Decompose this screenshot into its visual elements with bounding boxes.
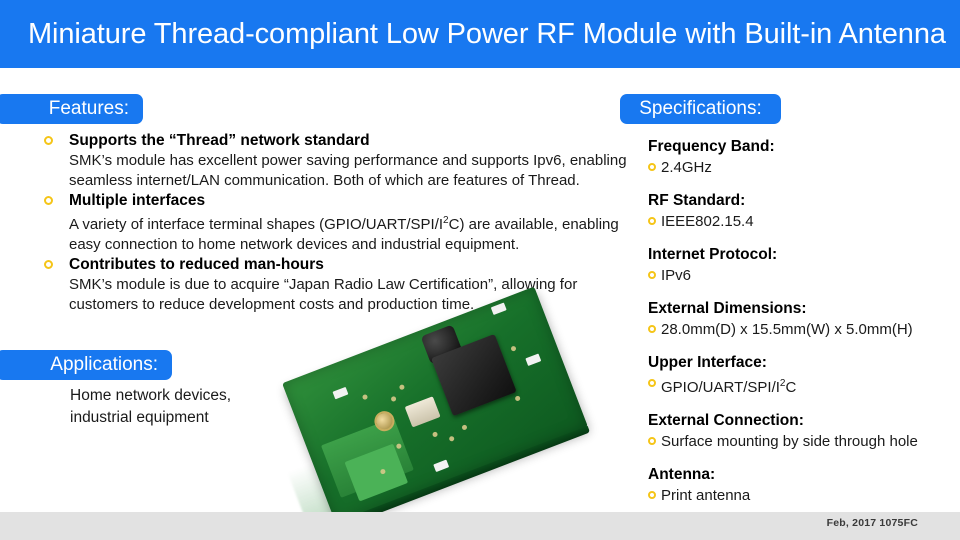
spec-label: External Dimensions:	[648, 298, 948, 319]
spec-label: External Connection:	[648, 410, 948, 431]
feature-body: SMK’s module has excellent power saving …	[44, 151, 634, 190]
bullet-ring-icon	[44, 136, 53, 145]
applications-line-1: Home network devices,	[70, 385, 231, 407]
feature-heading-text: Multiple interfaces	[69, 192, 205, 209]
feature-item: Supports the “Thread” network standard S…	[44, 131, 634, 190]
spec-value-text: Surface mounting by side through hole	[661, 433, 918, 450]
bullet-ring-icon	[648, 217, 656, 225]
bullet-ring-icon	[648, 491, 656, 499]
spec-value-text: IPv6	[661, 267, 691, 284]
spec-value-pre: GPIO/UART/SPI/I	[661, 379, 780, 396]
spec-value-post: C	[785, 379, 796, 396]
spec-group: External Connection: Surface mounting by…	[648, 410, 948, 452]
feature-heading: Supports the “Thread” network standard	[44, 131, 634, 151]
feature-heading-text: Supports the “Thread” network standard	[69, 132, 370, 149]
applications-line-2: industrial equipment	[70, 407, 231, 429]
spec-value: Surface mounting by side through hole	[648, 431, 948, 452]
bullet-ring-icon	[648, 437, 656, 445]
spec-label: Internet Protocol:	[648, 244, 948, 265]
spec-group: RF Standard: IEEE802.15.4	[648, 190, 948, 232]
spec-value: 28.0mm(D) x 15.5mm(W) x 5.0mm(H)	[648, 319, 948, 340]
spec-value-text: 28.0mm(D) x 15.5mm(W) x 5.0mm(H)	[661, 321, 913, 338]
feature-heading-text: Contributes to reduced man-hours	[69, 256, 324, 273]
bullet-ring-icon	[44, 196, 53, 205]
feature-body: A variety of interface terminal shapes (…	[44, 211, 634, 254]
spec-group: External Dimensions: 28.0mm(D) x 15.5mm(…	[648, 298, 948, 340]
footer-note: Feb, 2017 1075FC	[827, 517, 918, 529]
spec-label: RF Standard:	[648, 190, 948, 211]
applications-text: Home network devices, industrial equipme…	[70, 385, 231, 429]
spec-group: Frequency Band: 2.4GHz	[648, 136, 948, 178]
section-badge-features: Features:	[0, 94, 143, 124]
page-title: Miniature Thread-compliant Low Power RF …	[28, 13, 946, 55]
spec-value: IEEE802.15.4	[648, 211, 948, 232]
product-image-pcb-module	[282, 287, 588, 524]
bullet-ring-icon	[648, 163, 656, 171]
spec-label: Frequency Band:	[648, 136, 948, 157]
feature-body-pre: A variety of interface terminal shapes (…	[69, 216, 443, 233]
spec-value: Print antenna	[648, 485, 948, 506]
feature-body: SMK’s module is due to acquire “Japan Ra…	[44, 275, 634, 314]
floor-band	[0, 512, 960, 540]
feature-item: Multiple interfaces A variety of interfa…	[44, 191, 634, 254]
bullet-ring-icon	[648, 325, 656, 333]
spec-value-text: 2.4GHz	[661, 159, 712, 176]
spec-value: IPv6	[648, 265, 948, 286]
bullet-ring-icon	[648, 271, 656, 279]
specifications-list: Frequency Band: 2.4GHz RF Standard: IEEE…	[648, 136, 948, 518]
spec-value: 2.4GHz	[648, 157, 948, 178]
spec-label: Upper Interface:	[648, 352, 948, 373]
section-badge-applications: Applications:	[0, 350, 172, 380]
bullet-ring-icon	[44, 260, 53, 269]
spec-group: Upper Interface: GPIO/UART/SPI/I2C	[648, 352, 948, 398]
spec-value-text: Print antenna	[661, 487, 750, 504]
feature-item: Contributes to reduced man-hours SMK’s m…	[44, 255, 634, 314]
feature-heading: Contributes to reduced man-hours	[44, 255, 634, 275]
feature-heading: Multiple interfaces	[44, 191, 634, 211]
spec-label: Antenna:	[648, 464, 948, 485]
spec-value: GPIO/UART/SPI/I2C	[648, 373, 948, 398]
bullet-ring-icon	[648, 379, 656, 387]
spec-group: Internet Protocol: IPv6	[648, 244, 948, 286]
features-list: Supports the “Thread” network standard S…	[44, 131, 634, 315]
spec-value-text: IEEE802.15.4	[661, 213, 754, 230]
section-badge-specifications: Specifications:	[620, 94, 781, 124]
spec-group: Antenna: Print antenna	[648, 464, 948, 506]
